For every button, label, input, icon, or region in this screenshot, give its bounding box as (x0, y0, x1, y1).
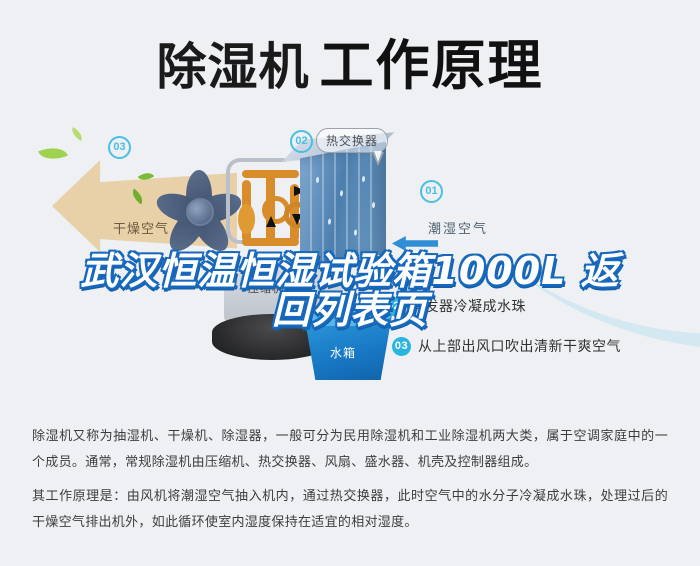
step-text-03: 从上部出风口吹出清新干爽空气 (418, 336, 621, 356)
page-header: 除湿机 工作原理 (0, 0, 700, 120)
air-intake-arrow-icon (392, 236, 438, 251)
copper-pipe (242, 238, 299, 246)
page-title-part1: 除湿机 (157, 27, 310, 99)
step-text-02: 蒸发器冷凝成水珠 (410, 296, 526, 316)
step-line-03: 03 从上部出风口吹出清新干爽空气 (392, 336, 621, 356)
badge-01-humid-air: 01 (420, 180, 443, 203)
copper-tubing-group (236, 162, 310, 270)
heat-exchanger-fin (334, 151, 336, 263)
page-title-part2: 工作原理 (320, 21, 544, 100)
step-line-02: 02 蒸发器冷凝成水珠 (384, 296, 526, 316)
humid-air-label: 潮湿空气 (428, 218, 488, 237)
heat-exchanger-fin (322, 154, 324, 266)
badge-03-dry-air: 03 (108, 136, 131, 159)
copper-accumulator (238, 204, 255, 234)
callout-tail-icon (372, 152, 384, 166)
body-paragraph-2: 其工作原理是：由风机将潮湿空气抽入机内，通过热交换器，此时空气中的水分子冷凝成水… (32, 484, 668, 536)
heat-exchanger-fin (358, 147, 360, 259)
condensation-droplet (316, 177, 319, 184)
badge-02-step: 02 (384, 297, 403, 316)
compressor-label: 压缩机 (248, 280, 284, 296)
badge-02-heat-exchanger: 02 (290, 130, 313, 153)
condensation-droplet (354, 229, 357, 236)
badge-03-step: 03 (392, 337, 411, 356)
body-paragraph-1: 除湿机又称为抽湿机、干燥机、除湿器，一般可分为民用除湿机和工业除湿机两大类，属于… (32, 424, 668, 476)
condensation-droplet (340, 190, 343, 197)
fan-hub (186, 198, 214, 226)
body-copy-section: 除湿机又称为抽湿机、干燥机、除湿器，一般可分为民用除湿机和工业除湿机两大类，属于… (0, 400, 700, 566)
heat-exchanger-fin (346, 149, 348, 261)
flow-arrow-up-icon (266, 216, 276, 227)
heat-exchanger-fin (310, 156, 312, 268)
condensation-droplet (362, 176, 365, 183)
dehumidifier-diagram: 干燥空气 (0, 118, 700, 400)
water-tank-label: 水箱 (330, 344, 356, 361)
leaf-icon (38, 142, 68, 166)
condensation-droplet (328, 218, 331, 225)
page-root: 除湿机 工作原理 干燥空气 (0, 0, 700, 566)
condensation-droplet (372, 202, 375, 209)
page-title: 除湿机 工作原理 (157, 21, 544, 100)
leaf-icon (69, 127, 85, 141)
heat-exchanger-callout: 热交换器 (316, 128, 388, 153)
